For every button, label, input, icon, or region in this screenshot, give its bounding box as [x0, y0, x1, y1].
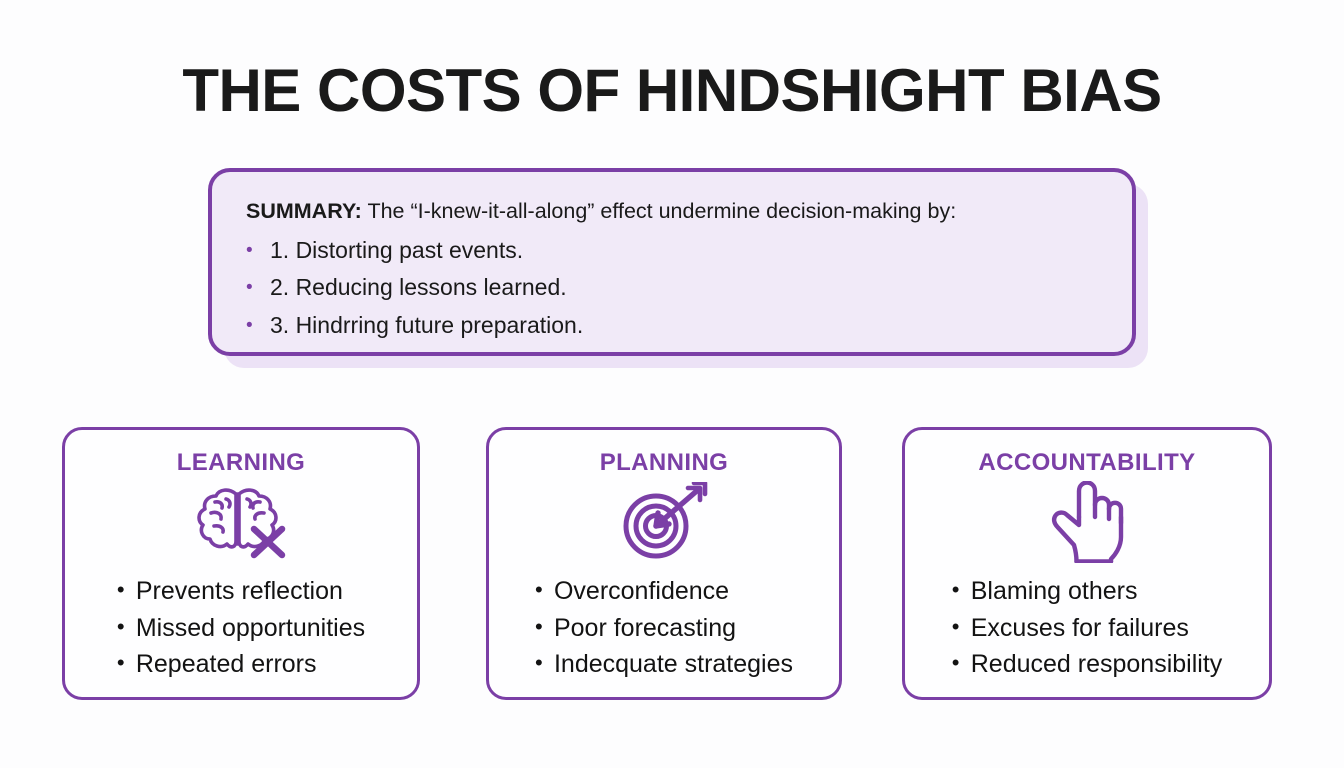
bullet-dot-icon: • [952, 616, 971, 638]
cards-row: LEARNING [0, 427, 1344, 700]
summary-list: • 1. Distorting past events. • 2. Reduci… [246, 232, 1098, 344]
list-item: • Prevents reflection [117, 573, 365, 610]
list-item: • Indecquate strategies [535, 646, 793, 683]
summary-lead-line: SUMMARY: The “I-knew-it-all-along” effec… [246, 198, 1098, 224]
list-item: • Poor forecasting [535, 610, 793, 647]
bullet-dot-icon: • [535, 652, 554, 674]
summary-list-item: • 1. Distorting past events. [246, 232, 1098, 269]
list-item: • Missed opportunities [117, 610, 365, 647]
summary-item-text: 1. Distorting past events. [270, 232, 523, 269]
card-list-accountability: • Blaming others • Excuses for failures … [952, 573, 1223, 683]
card-learning: LEARNING [62, 427, 420, 700]
list-item-text: Indecquate strategies [554, 646, 793, 683]
summary-item-text: 3. Hindrring future preparation. [270, 307, 583, 344]
bullet-dot-icon: • [246, 241, 270, 260]
bullet-dot-icon: • [117, 616, 136, 638]
list-item: • Excuses for failures [952, 610, 1223, 647]
summary-item-text: 2. Reducing lessons learned. [270, 269, 567, 306]
summary-label: SUMMARY: [246, 199, 362, 223]
list-item-text: Poor forecasting [554, 610, 736, 647]
summary-list-item: • 3. Hindrring future preparation. [246, 307, 1098, 344]
card-accountability: ACCOUNTABILITY • Blaming others [902, 427, 1272, 700]
card-title-planning: PLANNING [600, 449, 729, 477]
brain-x-icon [189, 481, 293, 563]
bullet-dot-icon: • [117, 579, 136, 601]
bullet-dot-icon: • [535, 616, 554, 638]
bullet-dot-icon: • [535, 579, 554, 601]
list-item: • Overconfidence [535, 573, 793, 610]
card-title-learning: LEARNING [177, 449, 306, 477]
pointing-hand-icon [1049, 481, 1125, 563]
list-item-text: Excuses for failures [971, 610, 1189, 647]
bullet-dot-icon: • [952, 579, 971, 601]
bullet-dot-icon: • [117, 652, 136, 674]
list-item-text: Overconfidence [554, 573, 729, 610]
list-item-text: Prevents reflection [136, 573, 343, 610]
bullet-dot-icon: • [952, 652, 971, 674]
list-item: • Blaming others [952, 573, 1223, 610]
card-planning: PLANNING • Overconfidence • [486, 427, 842, 700]
list-item-text: Missed opportunities [136, 610, 365, 647]
card-list-learning: • Prevents reflection • Missed opportuni… [117, 573, 365, 683]
list-item-text: Reduced responsibility [971, 646, 1223, 683]
card-list-planning: • Overconfidence • Poor forecasting • In… [535, 573, 793, 683]
card-title-accountability: ACCOUNTABILITY [978, 449, 1195, 477]
list-item-text: Blaming others [971, 573, 1138, 610]
summary-box: SUMMARY: The “I-knew-it-all-along” effec… [208, 168, 1136, 356]
summary-lead-text: The “I-knew-it-all-along” effect undermi… [362, 199, 956, 223]
list-item-text: Repeated errors [136, 646, 317, 683]
bullet-dot-icon: • [246, 278, 270, 297]
target-arrow-icon [616, 481, 712, 563]
summary-list-item: • 2. Reducing lessons learned. [246, 269, 1098, 306]
page-title: THE COSTS OF HINDSHIGHT BIAS [0, 56, 1344, 125]
list-item: • Reduced responsibility [952, 646, 1223, 683]
bullet-dot-icon: • [246, 316, 270, 335]
list-item: • Repeated errors [117, 646, 365, 683]
